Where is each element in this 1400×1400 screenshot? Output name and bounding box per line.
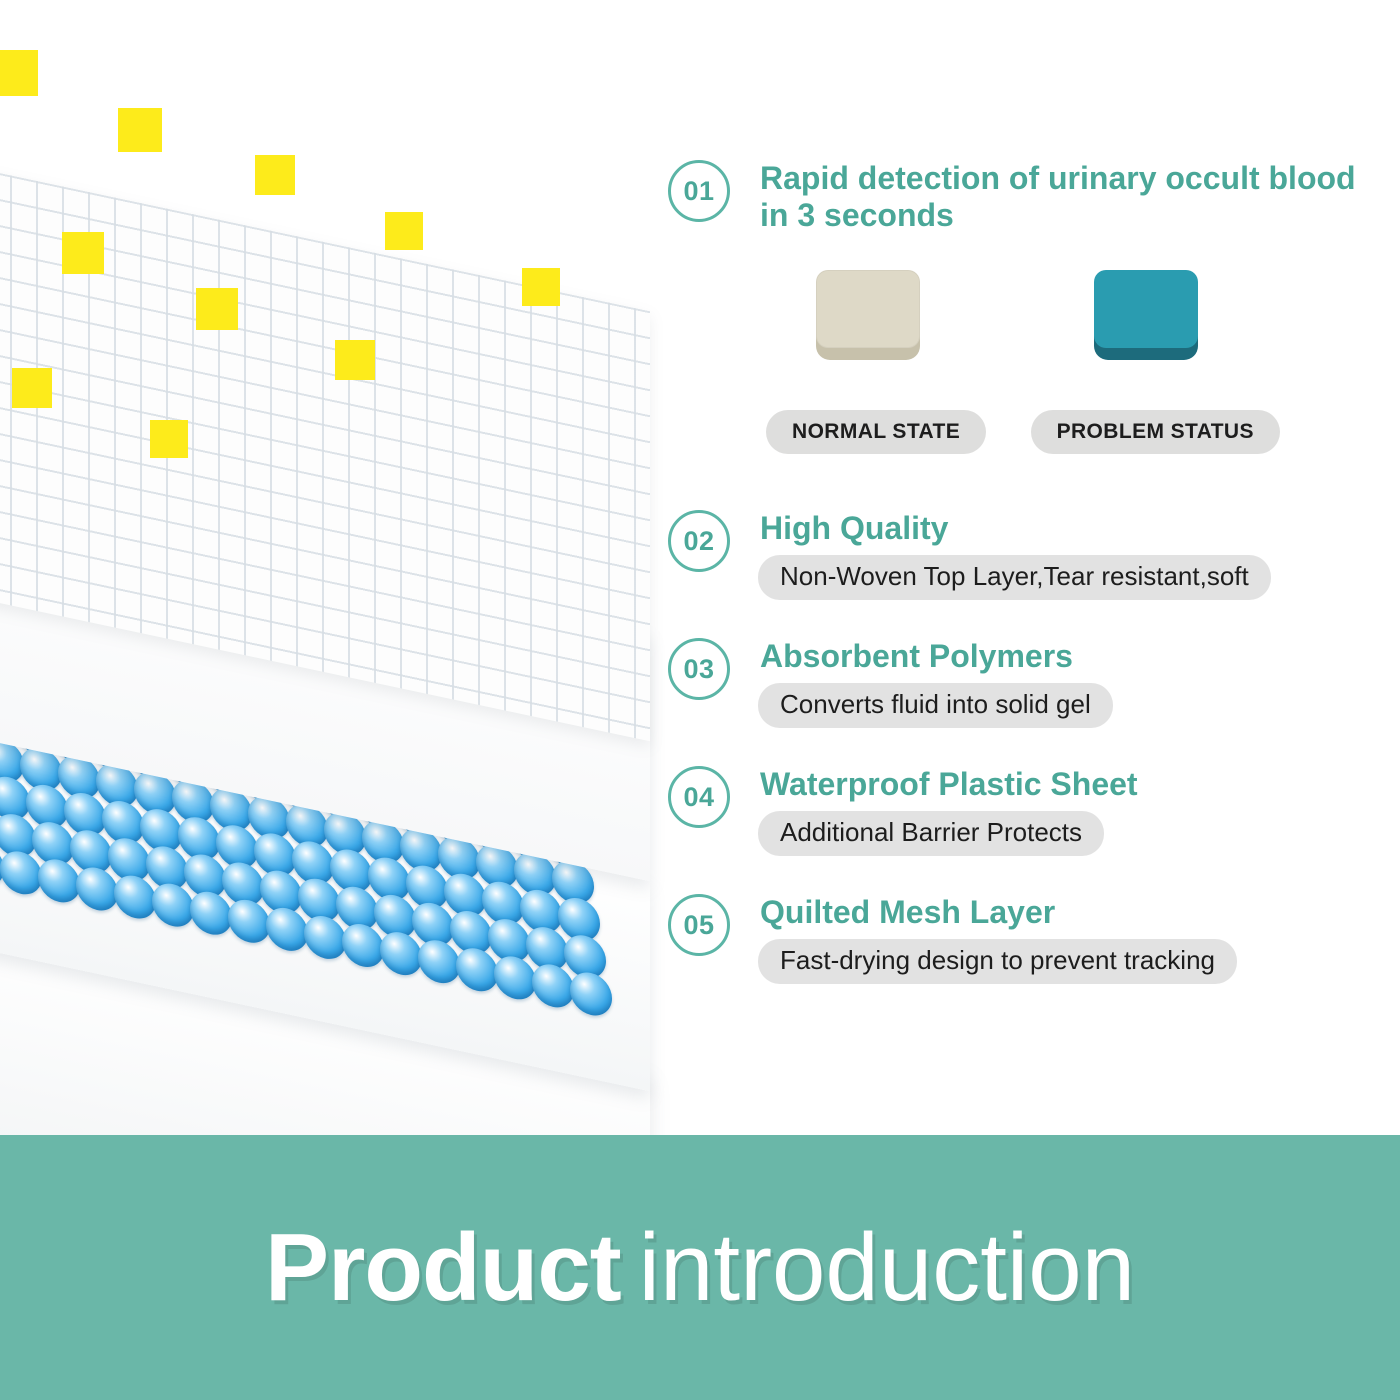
feature-item-01: 01 Rapid detection of urinary occult blo…: [668, 160, 1378, 234]
feature-title-04: Waterproof Plastic Sheet: [760, 766, 1138, 803]
feature-badge-02: 02: [668, 510, 730, 572]
confetti-square: [335, 340, 375, 380]
banner-light-word: introduction: [639, 1214, 1135, 1321]
chip-problem-status: PROBLEM STATUS: [1031, 410, 1280, 454]
confetti-square: [522, 268, 560, 306]
feature-subtitle-04: Additional Barrier Protects: [758, 811, 1104, 856]
confetti-square: [12, 368, 52, 408]
feature-subtitle-03: Converts fluid into solid gel: [758, 683, 1113, 728]
cube-top: [816, 270, 920, 348]
problem-status-cube: [1086, 270, 1204, 380]
confetti-square: [62, 232, 104, 274]
feature-item-03: 03 Absorbent Polymers Converts fluid int…: [668, 638, 1113, 728]
feature-title-02: High Quality: [760, 510, 1271, 547]
feature-subtitle-02: Non-Woven Top Layer,Tear resistant,soft: [758, 555, 1271, 600]
feature-badge-01: 01: [668, 160, 730, 222]
normal-state-cube: [808, 270, 926, 380]
feature-item-05: 05 Quilted Mesh Layer Fast-drying design…: [668, 894, 1237, 984]
feature-badge-03: 03: [668, 638, 730, 700]
confetti-square: [255, 155, 295, 195]
feature-subtitle-05: Fast-drying design to prevent tracking: [758, 939, 1237, 984]
chip-normal-state: NORMAL STATE: [766, 410, 986, 454]
confetti-square: [385, 212, 423, 250]
confetti-square: [150, 420, 188, 458]
confetti-square: [196, 288, 238, 330]
banner-title: Productintroduction: [265, 1220, 1135, 1316]
cube-top: [1094, 270, 1198, 348]
feature-item-04: 04 Waterproof Plastic Sheet Additional B…: [668, 766, 1138, 856]
confetti-square: [0, 50, 38, 96]
feature-title-03: Absorbent Polymers: [760, 638, 1113, 675]
confetti-square: [118, 108, 162, 152]
product-layers-illustration: [0, 0, 700, 1160]
feature-badge-04: 04: [668, 766, 730, 828]
feature-title-05: Quilted Mesh Layer: [760, 894, 1237, 931]
feature-item-02: 02 High Quality Non-Woven Top Layer,Tear…: [668, 510, 1271, 600]
banner-bold-word: Product: [265, 1214, 621, 1321]
bottom-banner: Productintroduction: [0, 1135, 1400, 1400]
feature-badge-05: 05: [668, 894, 730, 956]
feature-title-01: Rapid detection of urinary occult blood …: [760, 160, 1378, 234]
